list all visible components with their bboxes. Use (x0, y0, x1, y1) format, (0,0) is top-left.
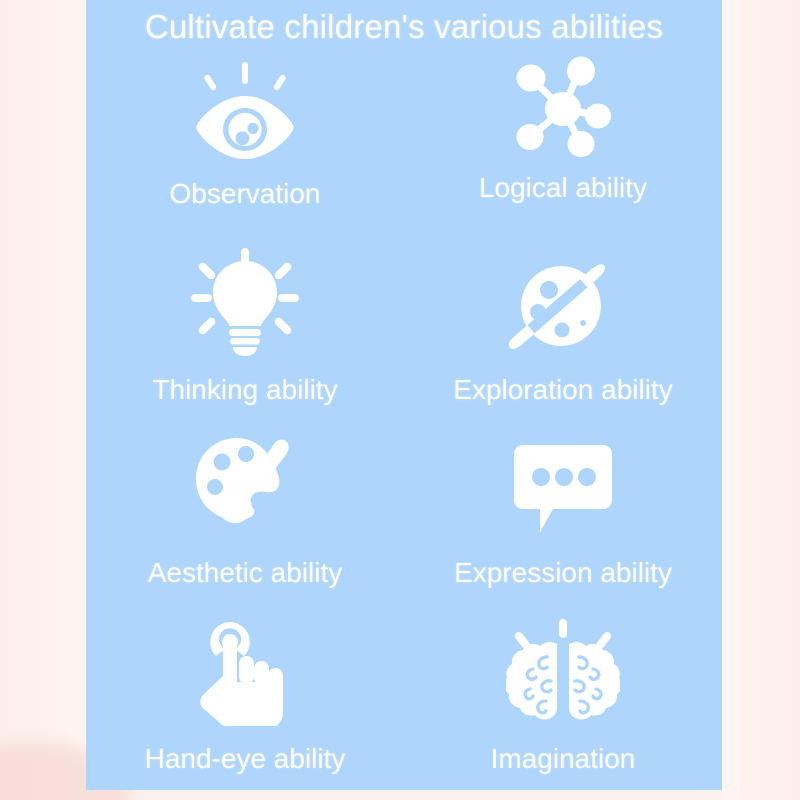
right-pink-margin (722, 0, 800, 800)
ability-item-thinking-ability[interactable]: Thinking ability (86, 234, 404, 420)
page-title: Cultivate children's various abilities (86, 6, 722, 48)
ability-item-observation[interactable]: Observation (86, 48, 404, 234)
abilities-panel: Cultivate children's various abilities (86, 0, 722, 790)
ability-item-logical-ability[interactable]: Logical ability (404, 48, 722, 234)
ability-label: Imagination (491, 743, 636, 775)
planet-icon (503, 244, 623, 360)
ability-item-exploration-ability[interactable]: Exploration ability (404, 234, 722, 420)
eye-icon (185, 54, 305, 170)
ability-label: Exploration ability (453, 374, 672, 406)
ability-item-expression-ability[interactable]: Expression ability (404, 419, 722, 605)
ability-item-imagination[interactable]: Imagination (404, 605, 722, 791)
ability-label: Logical ability (479, 172, 647, 204)
molecule-network-icon (503, 50, 623, 166)
ability-item-aesthetic-ability[interactable]: Aesthetic ability (86, 419, 404, 605)
palette-brush-icon (185, 429, 305, 545)
abilities-grid: Observation (86, 48, 722, 790)
ability-label: Observation (170, 178, 321, 210)
speech-bubble-icon (503, 429, 623, 545)
lightbulb-icon (185, 244, 305, 360)
poster-canvas: Cultivate children's various abilities (0, 0, 800, 800)
ability-label: Expression ability (454, 557, 672, 589)
ability-label: Thinking ability (152, 374, 337, 406)
brain-icon (503, 615, 623, 731)
ability-label: Hand-eye ability (145, 743, 346, 775)
ability-label: Aesthetic ability (148, 557, 343, 589)
ability-item-hand-eye-ability[interactable]: Hand-eye ability (86, 605, 404, 791)
tap-hand-icon (185, 615, 305, 731)
left-pink-margin (0, 0, 86, 800)
